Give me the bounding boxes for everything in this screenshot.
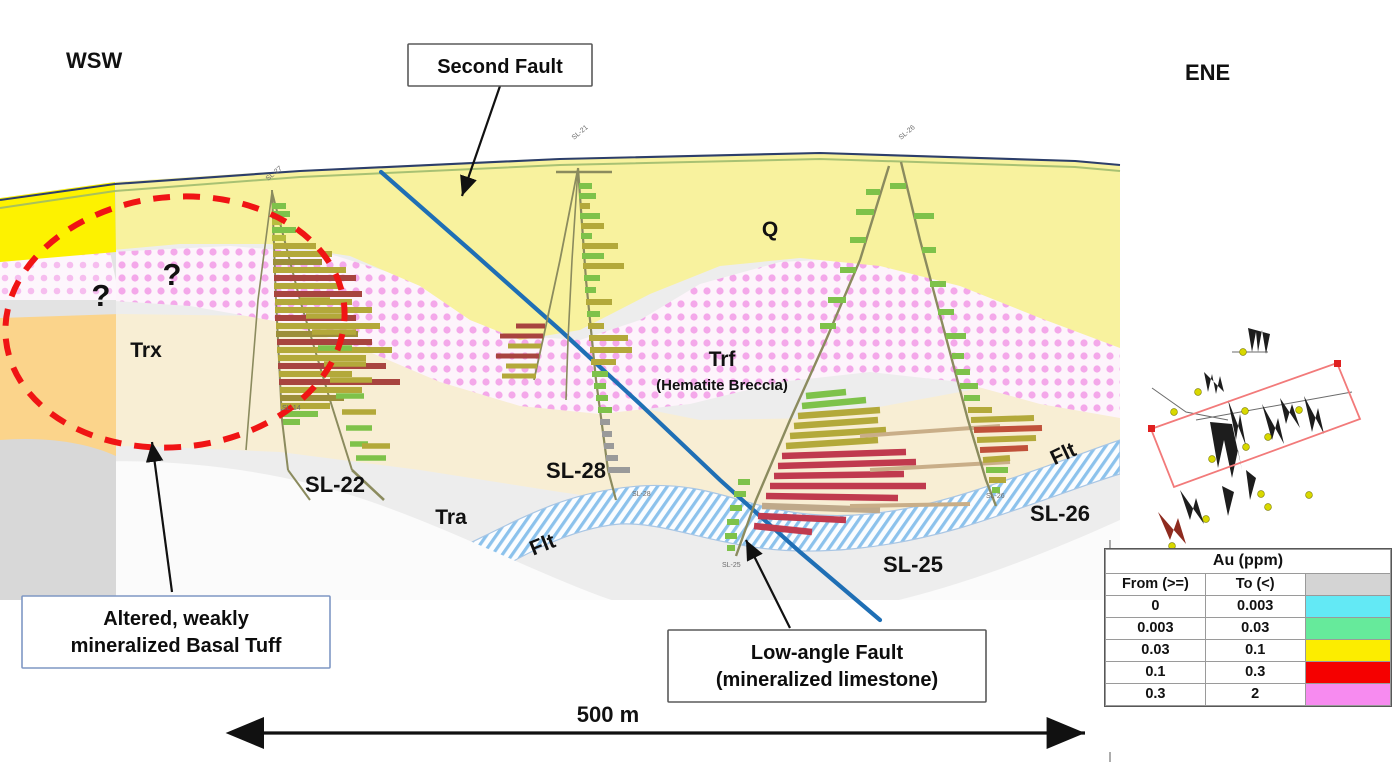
- callout-low-angle-fault-line2: (mineralized limestone): [716, 669, 938, 691]
- geology-panel: [0, 140, 1130, 620]
- legend-to-4: 2: [1205, 684, 1305, 706]
- callout-second-fault-text: Second Fault: [437, 56, 563, 78]
- collar-tag-5: SL-25: [722, 562, 741, 569]
- callout-basal-tuff-line2: mineralized Basal Tuff: [71, 635, 282, 657]
- callout-basal-tuff-line1: Altered, weakly: [103, 608, 250, 630]
- legend-row: 0 0.003: [1106, 596, 1391, 618]
- inset-highgrade-symbol: [1158, 512, 1186, 544]
- legend-swatch-1: [1305, 618, 1390, 640]
- legend-row: 0.003 0.03: [1106, 618, 1391, 640]
- legend-to-2: 0.1: [1205, 640, 1305, 662]
- scale-bar-label: 500 m: [577, 702, 639, 727]
- inset-section-endpoint-west: [1148, 425, 1155, 432]
- inset-section-box: [1151, 363, 1360, 487]
- inset-section-endpoint-east: [1334, 360, 1341, 367]
- collar-tag-3: SL-14: [282, 405, 301, 412]
- legend-swatch-0: [1305, 596, 1390, 618]
- drillhole-label-SL-22: SL-22: [305, 472, 365, 497]
- direction-label-ene: ENE: [1185, 60, 1230, 85]
- legend-swatch-4: [1305, 684, 1390, 706]
- drillhole-label-SL-25: SL-25: [883, 552, 943, 577]
- legend-row: 0.1 0.3: [1106, 662, 1391, 684]
- legend-header-to: To (<): [1205, 574, 1305, 596]
- legend-from-2: 0.03: [1106, 640, 1206, 662]
- legend-swatch-2: [1305, 640, 1390, 662]
- label-trf: Trf: [709, 348, 737, 371]
- question-mark-2: ?: [163, 257, 182, 292]
- drillhole-label-SL-28: SL-28: [546, 458, 606, 483]
- label-tra: Tra: [435, 506, 467, 529]
- legend-swatch-3: [1305, 662, 1390, 684]
- question-mark-1: ?: [92, 278, 111, 313]
- location-inset-map: [1148, 328, 1360, 549]
- legend-row: 0.3 2: [1106, 684, 1391, 706]
- drillhole-label-SL-26: SL-26: [1030, 501, 1090, 526]
- legend-header-swatch: [1305, 574, 1390, 596]
- au-legend-table: Au (ppm) From (>=) To (<) 0 0.003 0.003 …: [1104, 548, 1392, 707]
- callout-low-angle-fault-line1: Low-angle Fault: [751, 642, 904, 664]
- legend-to-3: 0.3: [1205, 662, 1305, 684]
- legend-to-0: 0.003: [1205, 596, 1305, 618]
- label-trx: Trx: [130, 339, 162, 362]
- legend-from-4: 0.3: [1106, 684, 1206, 706]
- label-trf-sub: (Hematite Breccia): [656, 377, 788, 394]
- label-q: Q: [762, 218, 778, 241]
- inset-drill-symbols: [1180, 328, 1324, 524]
- legend-from-3: 0.1: [1106, 662, 1206, 684]
- legend-row: 0.03 0.1: [1106, 640, 1391, 662]
- legend-from-1: 0.003: [1106, 618, 1206, 640]
- direction-label-wsw: WSW: [66, 48, 122, 73]
- cross-section-figure: Q Trf (Hematite Breccia) Trx Tra Flt Flt…: [0, 0, 1400, 770]
- scale-bar: 500 m: [232, 702, 1085, 733]
- legend-header-from: From (>=): [1106, 574, 1206, 596]
- collar-tag-4: SL-28: [632, 491, 651, 498]
- collar-tag-6: SL-26: [986, 493, 1005, 500]
- collar-tag-2: SL-26: [898, 124, 917, 141]
- legend-to-1: 0.03: [1205, 618, 1305, 640]
- legend-title-row: Au (ppm): [1106, 550, 1391, 574]
- collar-tag-1: SL-21: [571, 124, 590, 141]
- legend-title: Au (ppm): [1106, 550, 1391, 574]
- legend-header-row: From (>=) To (<): [1106, 574, 1391, 596]
- legend-from-0: 0: [1106, 596, 1206, 618]
